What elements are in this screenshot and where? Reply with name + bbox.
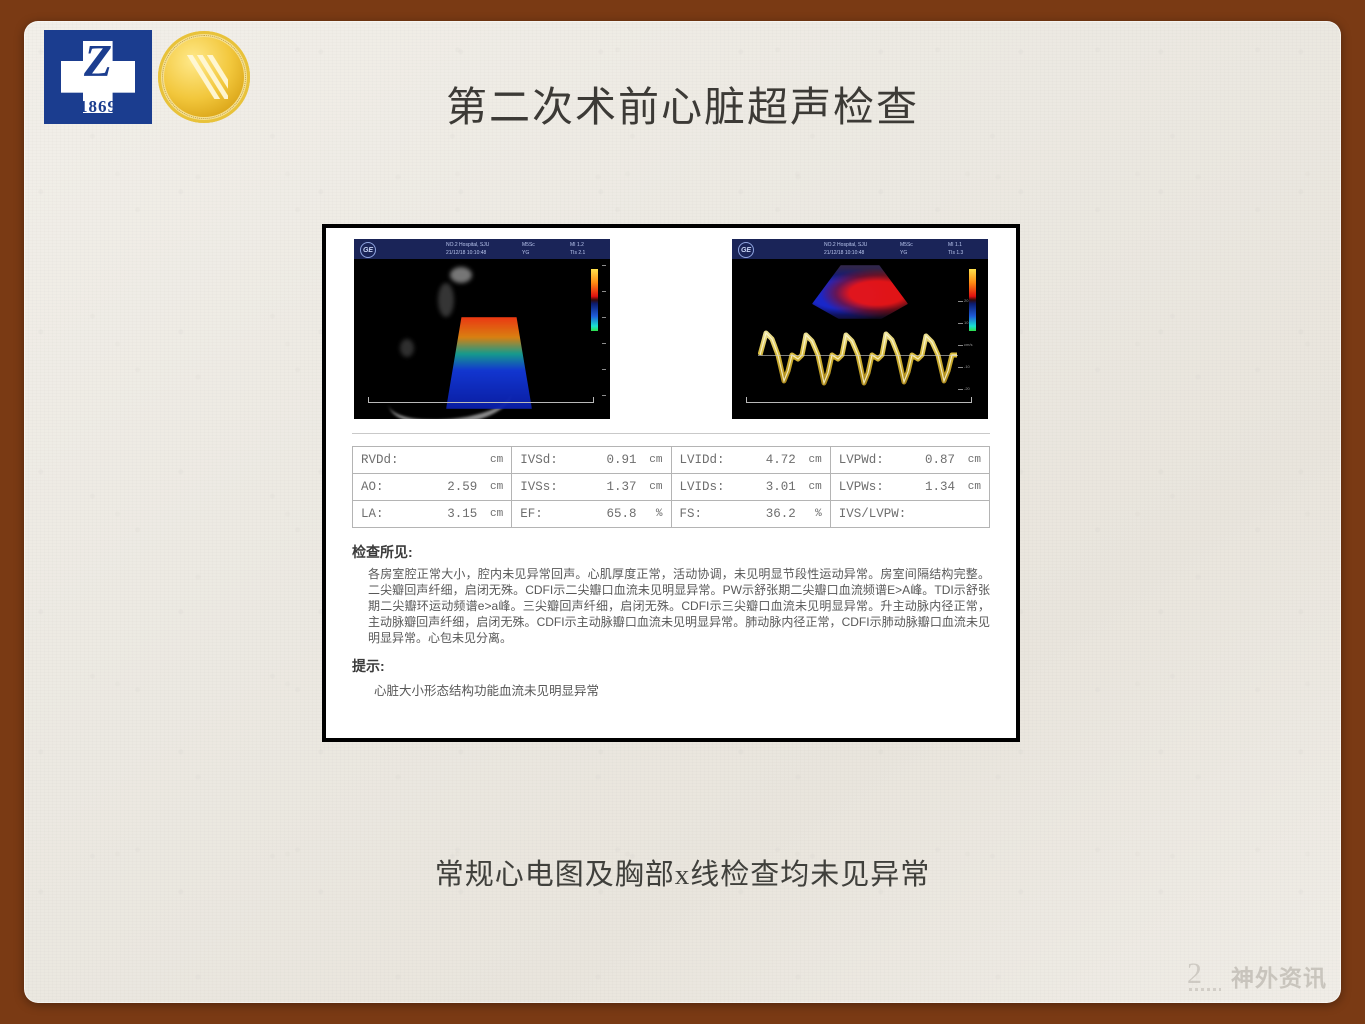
measurement-unit: cm xyxy=(490,508,503,520)
measurement-ivsd: IVSd: 0.91 cm xyxy=(512,447,671,474)
us-header-bar-right: GE NO.2 Hospital, SJU 21/12/18 10:10:48 … xyxy=(732,239,988,259)
findings-section: 检查所见: 各房室腔正常大小，腔内未见异常回声。心肌厚度正常，活动协调，未见明显… xyxy=(352,542,990,699)
measurement-unit: % xyxy=(656,508,663,520)
color-flow-sector xyxy=(446,317,532,409)
us-institution-right: NO.2 Hospital, SJU xyxy=(824,241,867,249)
us-mi-left: MI 1.2 xyxy=(570,241,584,249)
measurement-unit: cm xyxy=(968,481,981,493)
measurement-lvpws: LVPWs: 1.34 cm xyxy=(830,474,989,501)
doppler-baseline xyxy=(758,355,958,356)
us-timestamp-left: 21/12/18 10:10:48 xyxy=(446,249,486,257)
color-doppler-apical-view: GE NO.2 Hospital, SJU 21/12/18 10:10:48 … xyxy=(354,239,610,419)
measurement-label: LVIDs: xyxy=(680,480,725,494)
measurement-label: LA: xyxy=(361,507,384,521)
depth-ruler-left xyxy=(603,265,606,415)
measurement-label: IVS/LVPW: xyxy=(839,507,907,521)
measurement-value: 36.2 xyxy=(766,507,796,521)
measurement-label: RVDd: xyxy=(361,453,399,467)
velocity-tick-5: -20 xyxy=(964,386,970,391)
measurement-label: FS: xyxy=(680,507,703,521)
ultrasound-report-card: GE NO.2 Hospital, SJU 21/12/18 10:10:48 … xyxy=(322,224,1020,742)
color-flow-sector-small xyxy=(812,265,908,319)
us-probe-left: YG xyxy=(522,249,529,257)
us-mode-left: M5Sc xyxy=(522,241,535,249)
watermark-text: 神外资讯 xyxy=(1231,959,1327,993)
measurement-unit: cm xyxy=(809,481,822,493)
watermark-logo-icon: 2 xyxy=(1187,959,1225,993)
us-tis-left: TIs 2.1 xyxy=(570,249,585,257)
measurement-ao: AO: 2.59 cm xyxy=(353,474,512,501)
us-header-bar-left: GE NO.2 Hospital, SJU 21/12/18 10:10:48 … xyxy=(354,239,610,259)
us-tis-right: TIs 1.3 xyxy=(948,249,963,257)
measurement-value: 1.37 xyxy=(606,480,636,494)
velocity-tick-1: 20 xyxy=(964,298,968,303)
ge-logo-icon: GE xyxy=(360,242,376,258)
tissue-echo-apex xyxy=(450,267,472,283)
z-letter: Z xyxy=(44,38,152,84)
measurement-label: LVPWs: xyxy=(839,480,884,494)
velocity-tick-4: -10 xyxy=(964,364,970,369)
measurement-label: LVPWd: xyxy=(839,453,884,467)
measurement-unit: cm xyxy=(649,454,662,466)
measurement-unit: cm xyxy=(490,454,503,466)
gold-seal-logo xyxy=(158,31,250,123)
ge-logo-icon-right: GE xyxy=(738,242,754,258)
findings-body: 各房室腔正常大小，腔内未见异常回声。心肌厚度正常，活动协调，未见明显节段性运动异… xyxy=(368,566,990,646)
tissue-echo-upper xyxy=(438,283,454,317)
us-mi-right: MI 1.1 xyxy=(948,241,962,249)
measurement-lvids: LVIDs: 3.01 cm xyxy=(671,474,830,501)
scale-bar-right xyxy=(746,402,972,403)
us-mode-right: M5Sc xyxy=(900,241,913,249)
measurement-label: LVIDd: xyxy=(680,453,725,467)
measurement-unit: cm xyxy=(968,454,981,466)
us-institution-left: NO.2 Hospital, SJU xyxy=(446,241,489,249)
measurement-value: 3.15 xyxy=(447,507,477,521)
slide-canvas: Z 1869 第二次术前心脏超声检查 GE NO.2 Hospital, SJU… xyxy=(24,21,1341,1003)
measurement-value: 4.72 xyxy=(766,453,796,467)
measurements-table: RVDd: cm IVSd: 0.91 cm LVIDd: 4.72 cm xyxy=(352,446,990,528)
velocity-colorbar-left xyxy=(591,269,598,331)
measurement-label: AO: xyxy=(361,480,384,494)
section-divider xyxy=(352,433,990,434)
founding-year: 1869 xyxy=(44,97,152,117)
us-timestamp-right: 21/12/18 10:10:48 xyxy=(824,249,864,257)
measurement-unit: % xyxy=(815,508,822,520)
impression-body: 心脏大小形态结构功能血流未见明显异常 xyxy=(374,680,990,699)
watermark: 2 神外资讯 xyxy=(1187,959,1327,993)
measurement-la: LA: 3.15 cm xyxy=(353,501,512,528)
measurement-ivss: IVSs: 1.37 cm xyxy=(512,474,671,501)
measurement-label: IVSs: xyxy=(520,480,558,494)
measurement-fs: FS: 36.2 % xyxy=(671,501,830,528)
table-row: AO: 2.59 cm IVSs: 1.37 cm LVIDs: 3.01 cm xyxy=(353,474,990,501)
findings-heading: 检查所见: xyxy=(352,542,990,562)
table-row: RVDd: cm IVSd: 0.91 cm LVIDd: 4.72 cm xyxy=(353,447,990,474)
measurement-label: IVSd: xyxy=(520,453,558,467)
tissue-echo-left xyxy=(400,339,414,357)
measurement-rvdd: RVDd: cm xyxy=(353,447,512,474)
velocity-tick-2: 10 xyxy=(964,320,968,325)
measurement-lvpwd: LVPWd: 0.87 cm xyxy=(830,447,989,474)
seal-slashes-icon xyxy=(184,55,228,99)
ultrasound-image-row: GE NO.2 Hospital, SJU 21/12/18 10:10:48 … xyxy=(326,228,1016,419)
us-probe-right: YG xyxy=(900,249,907,257)
z-shield-logo: Z 1869 xyxy=(44,30,152,124)
measurement-ef: EF: 65.8 % xyxy=(512,501,671,528)
measurement-value: 0.87 xyxy=(925,453,955,467)
measurement-value: 2.59 xyxy=(447,480,477,494)
measurement-label: EF: xyxy=(520,507,543,521)
logo-group: Z 1869 xyxy=(44,30,250,124)
measurement-unit: cm xyxy=(809,454,822,466)
measurement-unit: cm xyxy=(490,481,503,493)
measurement-value: 0.91 xyxy=(606,453,636,467)
slide-caption: 常规心电图及胸部x线检查均未见异常 xyxy=(24,851,1341,893)
tissue-doppler-spectral-trace: GE NO.2 Hospital, SJU 21/12/18 10:10:48 … xyxy=(732,239,988,419)
measurement-value: 1.34 xyxy=(925,480,955,494)
velocity-tick-3: cm/s xyxy=(964,342,972,347)
doppler-trace-svg xyxy=(758,325,958,401)
measurement-value: 65.8 xyxy=(606,507,636,521)
impression-heading: 提示: xyxy=(352,656,990,676)
doppler-waveform: 20 10 cm/s -10 -20 xyxy=(758,325,958,401)
measurement-lvidd: LVIDd: 4.72 cm xyxy=(671,447,830,474)
table-row: LA: 3.15 cm EF: 65.8 % FS: 36.2 % xyxy=(353,501,990,528)
measurement-unit: cm xyxy=(649,481,662,493)
velocity-colorbar-right xyxy=(969,269,976,331)
measurement-value: 3.01 xyxy=(766,480,796,494)
scale-bar-left xyxy=(368,402,594,403)
measurement-ivs-lvpw-ratio: IVS/LVPW: xyxy=(830,501,989,528)
